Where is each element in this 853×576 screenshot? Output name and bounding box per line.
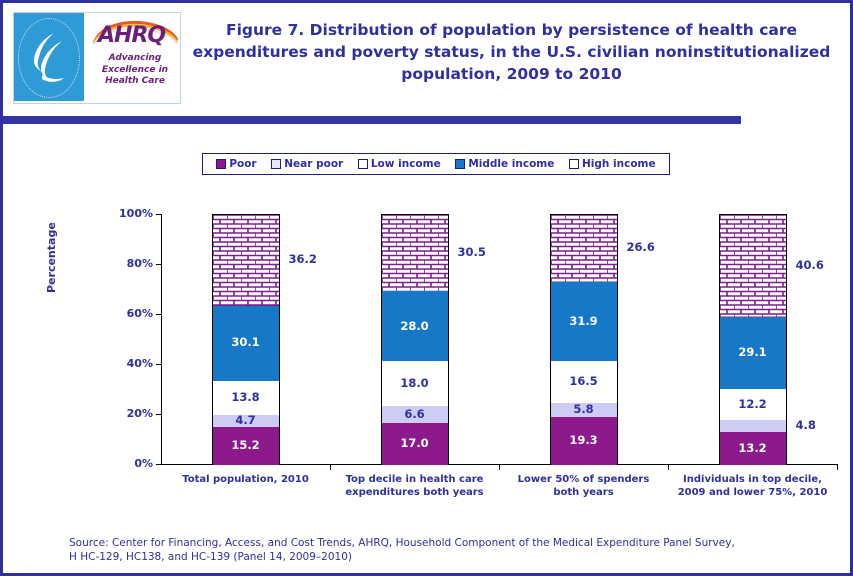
bar-value-label: 13.2 [738, 443, 766, 455]
bar-value-label: 12.2 [738, 399, 766, 411]
x-axis-category-separator [499, 464, 500, 470]
y-axis-tick-label: 20% [101, 407, 153, 420]
x-axis-category-label: Top decile in health careexpenditures bo… [330, 473, 499, 499]
bar-value-label: 18.0 [400, 378, 428, 390]
x-axis-category-separator [668, 464, 669, 470]
y-axis-tick-label: 80% [101, 257, 153, 270]
y-axis-tick-mark [156, 214, 161, 215]
source-note: Source: Center for Financing, Access, an… [69, 536, 809, 564]
bar-segment-high-income[interactable] [213, 215, 279, 306]
bar-value-label: 4.7 [235, 415, 255, 427]
x-axis-category-label-line: Top decile in health care [330, 473, 499, 486]
bar-value-label: 13.8 [231, 392, 259, 404]
bar-segment-low[interactable]: 12.2 [720, 389, 786, 420]
bar-value-label-outside: 36.2 [289, 252, 317, 266]
x-axis-category-label-line: both years [499, 486, 668, 499]
figure-page: AHRQ Advancing Excellence in Health Care… [0, 0, 853, 576]
y-axis-tick-label: 0% [101, 457, 153, 470]
y-axis-tick-mark [156, 314, 161, 315]
x-axis-category-label: Lower 50% of spendersboth years [499, 473, 668, 499]
y-axis-tick-mark [156, 464, 161, 465]
y-axis-tick-label: 40% [101, 357, 153, 370]
bar-segment-poor[interactable]: 19.3 [551, 417, 617, 465]
bar-value-label: 15.2 [231, 440, 259, 452]
x-axis-category-label-line: Lower 50% of spenders [499, 473, 668, 486]
y-axis-tick-label: 100% [101, 207, 153, 220]
x-axis-category-label-line: Individuals in top decile, [668, 473, 837, 486]
bar-segment-low[interactable]: 18.0 [382, 361, 448, 406]
x-axis-category-label-line: Total population, 2010 [161, 473, 330, 486]
x-axis-category-separator [837, 464, 838, 470]
bar-segment-poor[interactable]: 15.2 [213, 427, 279, 465]
x-axis-category-label-line: expenditures both years [330, 486, 499, 499]
x-axis-category-label-line: 2009 and lower 75%, 2010 [668, 486, 837, 499]
y-axis-title: Percentage [45, 222, 58, 293]
y-axis-line [161, 214, 162, 464]
bar-value-label: 28.0 [400, 321, 428, 333]
stacked-bar[interactable]: 31.916.55.819.3 [550, 214, 618, 464]
bar-segment-near[interactable]: 4.7 [213, 415, 279, 427]
bar-segment-low[interactable]: 16.5 [551, 361, 617, 402]
bar-segment-near[interactable]: 6.6 [382, 406, 448, 423]
bar-value-label-outside: 26.6 [627, 240, 655, 254]
y-axis-tick-mark [156, 364, 161, 365]
bar-value-label-outside: 40.6 [796, 258, 824, 272]
bar-segment-high-income[interactable] [382, 215, 448, 291]
bar-segment-near[interactable]: 5.8 [551, 403, 617, 418]
source-line-2: H HC-129, HC138, and HC-139 (Panel 14, 2… [69, 550, 809, 564]
bar-value-label: 29.1 [738, 347, 766, 359]
y-axis-tick-mark [156, 264, 161, 265]
bar-segment-poor[interactable]: 13.2 [720, 432, 786, 465]
stacked-bar[interactable]: 30.113.84.715.2 [212, 214, 280, 464]
bar-value-label: 16.5 [569, 376, 597, 388]
stacked-bar[interactable]: 29.112.213.2 [719, 214, 787, 464]
bar-segment-middle[interactable]: 31.9 [551, 282, 617, 362]
bar-segment-poor[interactable]: 17.0 [382, 423, 448, 466]
bar-value-label: 5.8 [573, 404, 593, 416]
bar-value-label-outside: 4.8 [796, 418, 816, 432]
y-axis-tick-label: 60% [101, 307, 153, 320]
bar-segment-high-income[interactable] [551, 215, 617, 282]
x-axis-category-label: Total population, 2010 [161, 473, 330, 486]
bar-segment-middle[interactable]: 30.1 [213, 306, 279, 381]
x-axis-category-separator [330, 464, 331, 470]
y-axis-tick-mark [156, 414, 161, 415]
bar-segment-middle[interactable]: 29.1 [720, 317, 786, 390]
chart-plot-area: Percentage 0%20%40%60%80%100%30.113.84.7… [3, 3, 850, 573]
bar-segment-near[interactable] [720, 420, 786, 432]
bar-value-label: 17.0 [400, 438, 428, 450]
bar-segment-low[interactable]: 13.8 [213, 381, 279, 416]
bar-value-label: 30.1 [231, 337, 259, 349]
stacked-bar[interactable]: 28.018.06.617.0 [381, 214, 449, 464]
bar-value-label: 31.9 [569, 316, 597, 328]
bar-value-label-outside: 30.5 [458, 245, 486, 259]
bar-value-label: 19.3 [569, 435, 597, 447]
bar-segment-middle[interactable]: 28.0 [382, 291, 448, 361]
bar-value-label: 6.6 [404, 409, 424, 421]
bar-segment-high-income[interactable] [720, 215, 786, 317]
x-axis-category-label: Individuals in top decile,2009 and lower… [668, 473, 837, 499]
source-line-1: Source: Center for Financing, Access, an… [69, 536, 809, 550]
